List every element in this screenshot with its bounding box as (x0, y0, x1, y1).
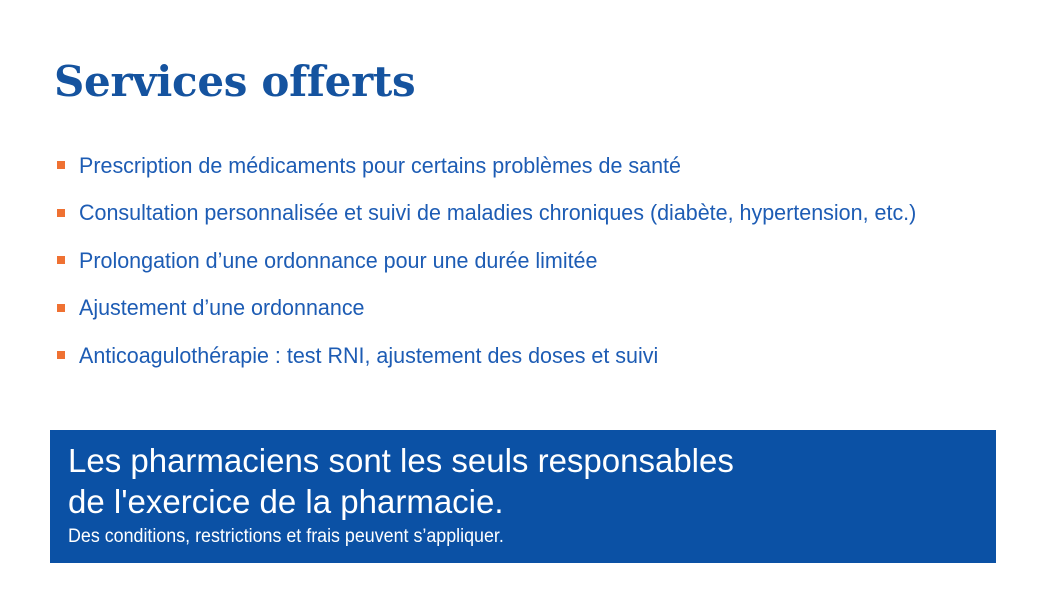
square-bullet-icon (57, 256, 65, 264)
square-bullet-icon (57, 209, 65, 217)
square-bullet-icon (57, 161, 65, 169)
list-item: Anticoagulothérapie : test RNI, ajusteme… (54, 332, 1034, 380)
services-bullet-list: Prescription de médicaments pour certain… (54, 142, 1034, 380)
list-item-label: Prescription de médicaments pour certain… (79, 152, 681, 180)
list-item: Consultation personnalisée et suivi de m… (54, 190, 1034, 238)
list-item: Ajustement d’une ordonnance (54, 285, 1034, 333)
callout-banner: Les pharmaciens sont les seuls responsab… (50, 430, 996, 563)
callout-headline: Les pharmaciens sont les seuls responsab… (68, 440, 996, 522)
square-bullet-icon (57, 304, 65, 312)
square-bullet-icon (57, 351, 65, 359)
list-item: Prescription de médicaments pour certain… (54, 142, 1034, 190)
list-item-label: Anticoagulothérapie : test RNI, ajusteme… (79, 342, 658, 370)
list-item-label: Prolongation d’une ordonnance pour une d… (79, 247, 597, 275)
list-item-label: Ajustement d’une ordonnance (79, 294, 365, 322)
list-item: Prolongation d’une ordonnance pour une d… (54, 237, 1034, 285)
list-item-label: Consultation personnalisée et suivi de m… (79, 199, 916, 227)
callout-subline: Des conditions, restrictions et frais pe… (68, 525, 940, 549)
page-title: Services offerts (54, 58, 415, 106)
slide-canvas: Services offerts Prescription de médicam… (0, 0, 1050, 600)
